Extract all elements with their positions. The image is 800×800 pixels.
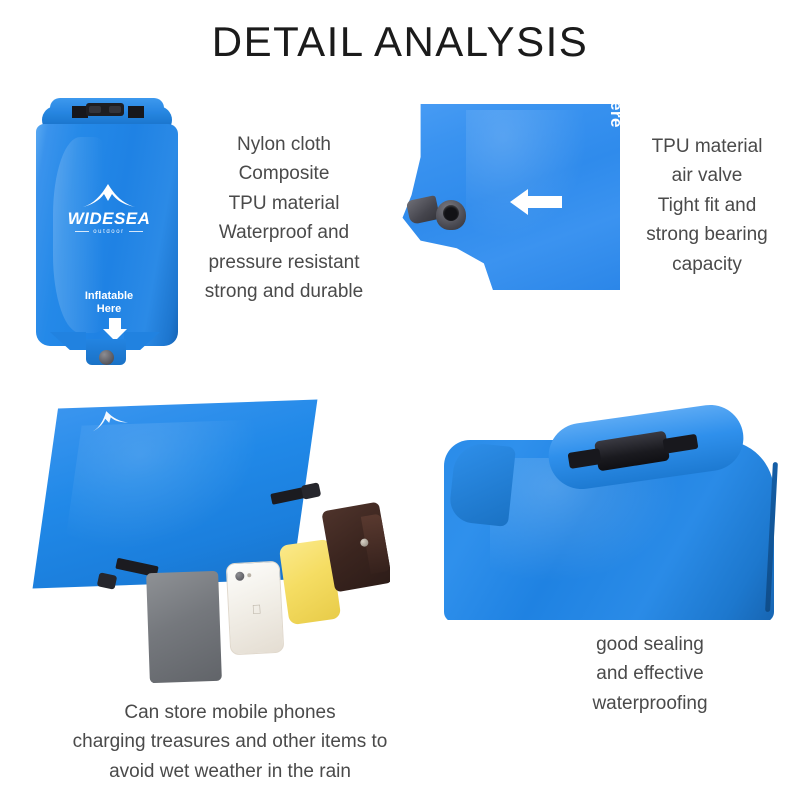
caption-nylon-cloth: Nylon cloth Composite TPU material Water…: [186, 130, 382, 307]
phone-camera-icon: [235, 572, 244, 581]
inflate-label-line1: Inflatable: [28, 290, 190, 303]
flat-bag-with-items-photo: : [28, 394, 390, 686]
apple-logo-icon: : [251, 603, 263, 617]
inflate-label-line2: Here: [28, 303, 190, 316]
caption-tpu-air-valve: TPU material air valve Tight fit and str…: [618, 132, 796, 279]
buckle-icon: [86, 103, 124, 116]
caption-storage-capacity: Can store mobile phones charging treasur…: [20, 698, 440, 786]
caption-good-sealing: good sealing and effective waterproofing: [548, 630, 752, 718]
rotated-here-label: Here: [606, 104, 620, 128]
item-smartphone: : [226, 561, 285, 656]
item-towel: [146, 571, 222, 683]
detail-analysis-page: DETAIL ANALYSIS WIDESEA outdoor Inflatab…: [0, 0, 800, 800]
upright-dry-bag-photo: WIDESEA outdoor Inflatable Here: [28, 84, 190, 376]
buckle-icon: [97, 572, 118, 589]
brand-tagline: outdoor: [28, 229, 190, 235]
valve-opening: [443, 205, 459, 221]
inflate-label-group: Inflatable Here: [28, 290, 190, 318]
rolled-top-closure-photo: [430, 398, 800, 620]
buckle-icon: [301, 482, 322, 499]
mountain-icon: [81, 182, 137, 208]
page-title: DETAIL ANALYSIS: [0, 18, 800, 66]
air-valve-closeup-photo: Here: [398, 104, 620, 326]
brand-tagline-text: outdoor: [89, 229, 129, 235]
phone-flash-icon: [247, 573, 251, 577]
valve-icon: [99, 350, 114, 365]
bag-strap-right: [128, 106, 144, 118]
left-arrow-icon: [510, 186, 562, 218]
brand-name: WIDESEA: [28, 210, 190, 227]
brand-logo: WIDESEA outdoor: [28, 182, 190, 235]
